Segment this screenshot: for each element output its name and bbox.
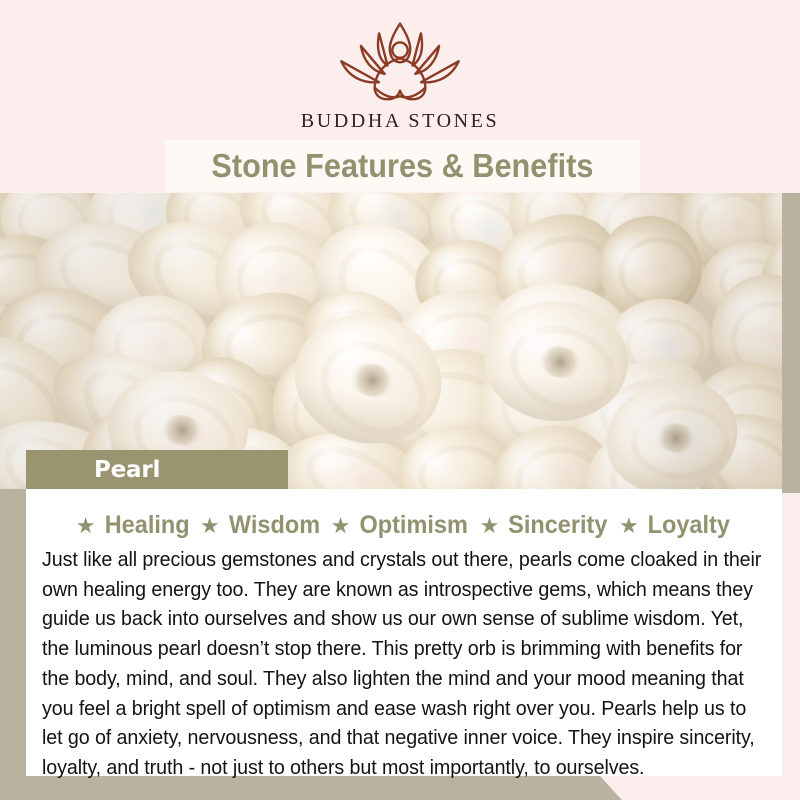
stone-description: Just like all precious gemstones and cry… bbox=[42, 545, 765, 783]
star-icon: ★ bbox=[619, 515, 639, 537]
stone-name-label: Pearl bbox=[26, 457, 160, 483]
brand-name: BUDDHA STONES bbox=[0, 110, 800, 133]
star-icon: ★ bbox=[76, 515, 96, 537]
benefit-item-optimism: ★Optimism bbox=[331, 511, 472, 540]
benefit-label: Optimism bbox=[360, 511, 468, 540]
page-title: Stone Features & Benefits bbox=[211, 147, 593, 185]
star-icon: ★ bbox=[200, 515, 220, 537]
content-panel: ★Healing★Wisdom★Optimism★Sincerity★Loyal… bbox=[26, 489, 782, 776]
brand-logo: BUDDHA STONES bbox=[0, 18, 800, 133]
pearl-photo-canvas bbox=[0, 193, 782, 489]
benefit-label: Loyalty bbox=[647, 511, 729, 540]
benefit-item-loyalty: ★Loyalty bbox=[619, 511, 732, 540]
benefits-list: ★Healing★Wisdom★Optimism★Sincerity★Loyal… bbox=[42, 511, 766, 540]
benefit-label: Healing bbox=[104, 511, 189, 540]
frame-left-accent bbox=[0, 489, 26, 779]
benefit-label: Wisdom bbox=[228, 511, 319, 540]
benefit-item-sincerity: ★Sincerity bbox=[480, 511, 611, 540]
star-icon: ★ bbox=[480, 515, 500, 537]
star-icon: ★ bbox=[331, 515, 351, 537]
benefit-item-wisdom: ★Wisdom bbox=[200, 511, 323, 540]
frame-right-lower-accent bbox=[782, 193, 800, 493]
pearl-photo bbox=[0, 193, 782, 489]
stone-name-banner: Pearl bbox=[26, 450, 288, 489]
lotus-meditation-icon bbox=[330, 18, 470, 106]
title-band: Stone Features & Benefits bbox=[165, 140, 640, 192]
benefit-label: Sincerity bbox=[508, 511, 607, 540]
benefit-item-healing: ★Healing bbox=[76, 511, 192, 540]
stone-benefits-poster: BUDDHA STONES Stone Features & Benefits … bbox=[0, 0, 800, 800]
